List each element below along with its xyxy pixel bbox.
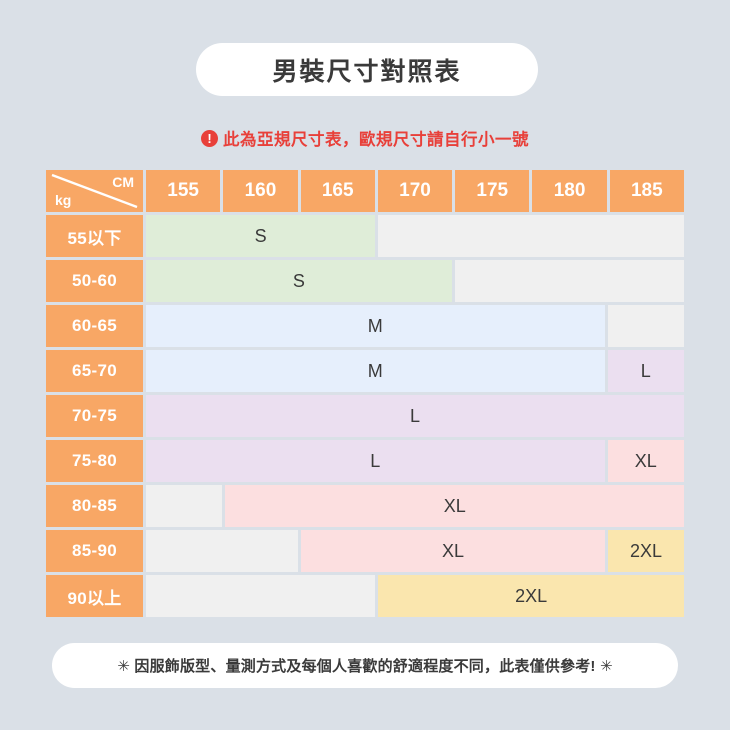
table-header-row: CM kg 155160165170175180185: [46, 170, 684, 212]
size-cell-2XL: 2XL: [608, 530, 684, 572]
page-title-pill: 男裝尺寸對照表: [196, 43, 538, 96]
corner-height-unit-label: CM: [112, 174, 134, 190]
row-header-90以上: 90以上: [46, 575, 143, 617]
row-header-60-65: 60-65: [46, 305, 143, 347]
table-row: 60-65M: [46, 305, 684, 347]
column-header-155: 155: [146, 170, 220, 212]
size-cell-empty: [146, 485, 222, 527]
size-cell-2XL: 2XL: [378, 575, 684, 617]
size-cell-XL: XL: [301, 530, 605, 572]
page-title: 男裝尺寸對照表: [272, 52, 461, 88]
table-row: 80-85XL: [46, 485, 684, 527]
column-header-165: 165: [301, 170, 375, 212]
column-header-185: 185: [610, 170, 684, 212]
size-cell-empty: [608, 305, 684, 347]
table-row: 75-80LXL: [46, 440, 684, 482]
row-header-85-90: 85-90: [46, 530, 143, 572]
size-cell-M: M: [146, 305, 605, 347]
corner-weight-unit-label: kg: [55, 192, 71, 208]
row-header-55以下: 55以下: [46, 215, 143, 257]
column-header-160: 160: [223, 170, 297, 212]
size-cell-L: L: [146, 440, 605, 482]
header-cells: 155160165170175180185: [146, 170, 684, 212]
row-header-75-80: 75-80: [46, 440, 143, 482]
row-cells: S: [146, 215, 684, 257]
row-header-50-60: 50-60: [46, 260, 143, 302]
row-header-65-70: 65-70: [46, 350, 143, 392]
column-header-175: 175: [455, 170, 529, 212]
size-chart-page: 男裝尺寸對照表 ! 此為亞規尺寸表，歐規尺寸請自行小一號 CM kg 15516…: [0, 0, 730, 730]
size-cell-S: S: [146, 260, 452, 302]
table-row: 55以下S: [46, 215, 684, 257]
size-cell-empty: [146, 530, 298, 572]
size-cell-empty: [378, 215, 684, 257]
size-cell-XL: XL: [225, 485, 684, 527]
row-header-80-85: 80-85: [46, 485, 143, 527]
table-corner-cell: CM kg: [46, 170, 143, 212]
table-row: 50-60S: [46, 260, 684, 302]
row-cells: XL2XL: [146, 530, 684, 572]
size-cell-L: L: [146, 395, 684, 437]
table-row: 65-70ML: [46, 350, 684, 392]
row-cells: M: [146, 305, 684, 347]
warning-banner: ! 此為亞規尺寸表，歐規尺寸請自行小一號: [0, 126, 730, 150]
size-cell-M: M: [146, 350, 605, 392]
row-cells: XL: [146, 485, 684, 527]
size-cell-empty: [146, 575, 375, 617]
table-row: 85-90XL2XL: [46, 530, 684, 572]
row-cells: 2XL: [146, 575, 684, 617]
size-cell-L: L: [608, 350, 684, 392]
size-cell-XL: XL: [608, 440, 684, 482]
warning-text: 此為亞規尺寸表，歐規尺寸請自行小一號: [223, 126, 529, 150]
size-cell-empty: [455, 260, 684, 302]
footer-note-text: ✳ 因服飾版型、量測方式及每個人喜歡的舒適程度不同，此表僅供參考! ✳: [117, 655, 612, 676]
column-header-180: 180: [532, 170, 606, 212]
footer-note-pill: ✳ 因服飾版型、量測方式及每個人喜歡的舒適程度不同，此表僅供參考! ✳: [52, 643, 678, 688]
table-body: 55以下S50-60S60-65M65-70ML70-75L75-80LXL80…: [46, 215, 684, 617]
row-cells: S: [146, 260, 684, 302]
exclamation-circle-icon: !: [201, 130, 218, 147]
row-cells: LXL: [146, 440, 684, 482]
row-header-70-75: 70-75: [46, 395, 143, 437]
row-cells: L: [146, 395, 684, 437]
column-header-170: 170: [378, 170, 452, 212]
row-cells: ML: [146, 350, 684, 392]
table-row: 70-75L: [46, 395, 684, 437]
table-row: 90以上2XL: [46, 575, 684, 617]
size-cell-S: S: [146, 215, 375, 257]
size-table: CM kg 155160165170175180185 55以下S50-60S6…: [46, 170, 684, 617]
